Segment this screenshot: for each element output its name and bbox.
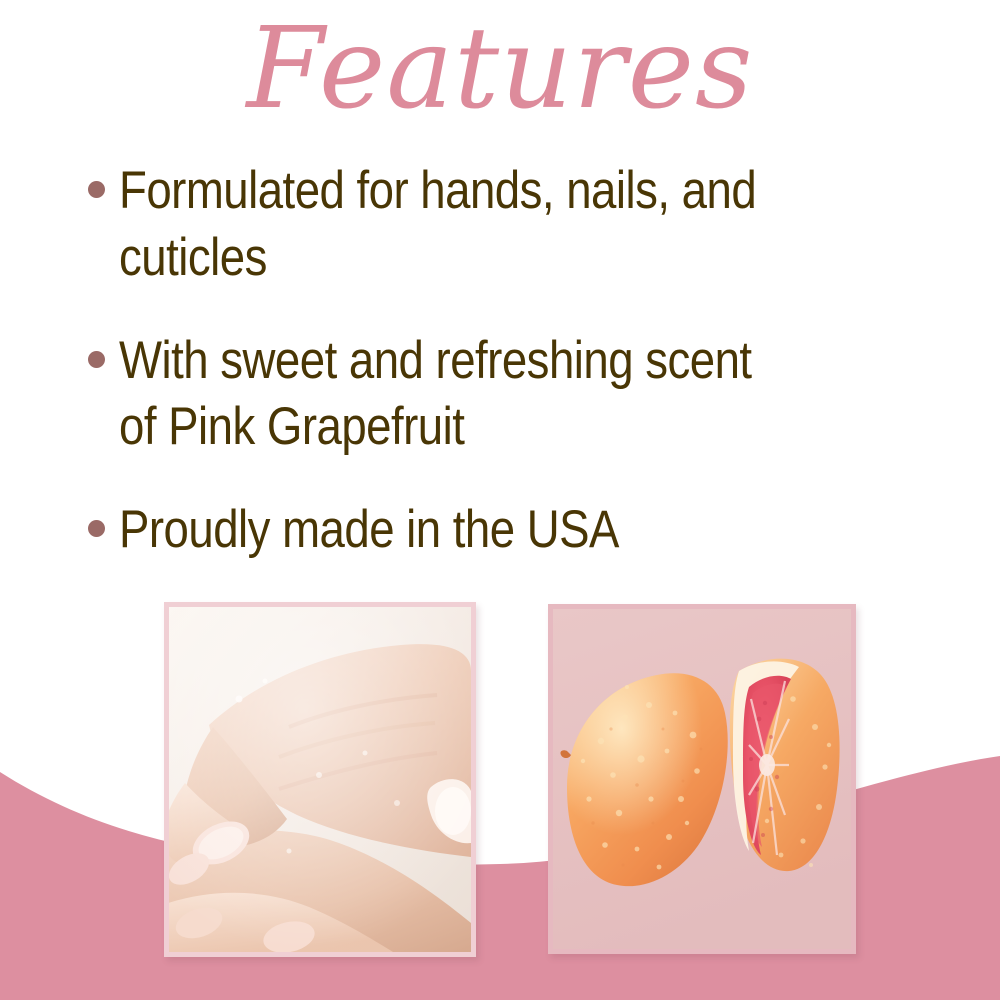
list-item: Formulated for hands, nails, and cuticle… — [88, 158, 888, 292]
feature-label: With sweet and refreshing scent of Pink … — [119, 328, 780, 462]
grapefruit-right-half — [730, 659, 840, 871]
photo-hands-applying-lotion — [164, 602, 476, 957]
photo-pink-grapefruit-halves — [548, 604, 856, 954]
photo-hands-image — [169, 607, 471, 952]
photo-grapefruit-image — [553, 609, 851, 949]
grapefruit-illustration — [553, 609, 851, 949]
bullet-dot-icon — [88, 520, 105, 537]
bullet-dot-icon — [88, 351, 105, 368]
feature-label: Proudly made in the USA — [119, 497, 780, 564]
hands-illustration — [169, 607, 471, 952]
bullet-dot-icon — [88, 181, 105, 198]
features-list: Formulated for hands, nails, and cuticle… — [88, 158, 888, 564]
list-item: With sweet and refreshing scent of Pink … — [88, 328, 888, 462]
feature-panel: Features Formulated for hands, nails, an… — [0, 0, 1000, 1000]
page-title: Features — [0, 8, 1000, 131]
list-item: Proudly made in the USA — [88, 497, 888, 564]
feature-label: Formulated for hands, nails, and cuticle… — [119, 158, 780, 292]
